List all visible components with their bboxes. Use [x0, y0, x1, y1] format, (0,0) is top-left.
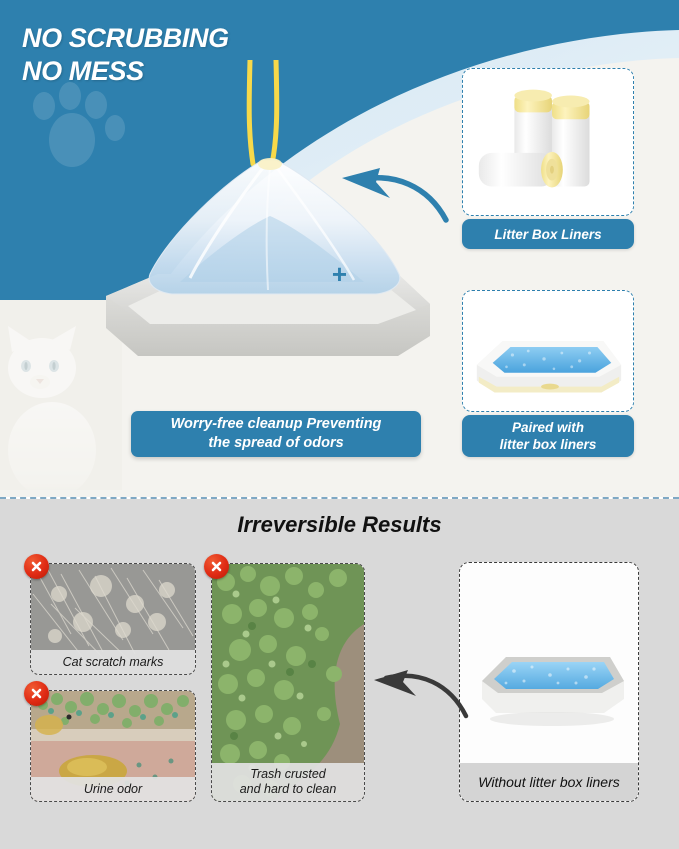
- product-card-liners-frame: [462, 68, 634, 216]
- problem-card-trash[interactable]: Trash crusted and hard to clean: [211, 563, 365, 802]
- problem-card-urine[interactable]: Urine odor: [30, 690, 196, 802]
- section-divider: [0, 497, 679, 499]
- product-card-paired[interactable]: Paired with litter box liners: [462, 290, 634, 457]
- result-card-caption: Without litter box liners: [460, 763, 638, 801]
- liner-rolls-image: [463, 69, 633, 215]
- problem-card-scratch[interactable]: Cat scratch marks: [30, 563, 196, 675]
- blue-litter-tray-image: [463, 291, 633, 411]
- x-badge-icon-trash: [204, 554, 229, 579]
- result-card-without-liners[interactable]: Without litter box liners: [459, 562, 639, 802]
- dark-arrow-icon: [372, 662, 472, 720]
- blue-arrow-icon: [332, 158, 452, 224]
- problem-card-scratch-image: Cat scratch marks: [31, 564, 195, 674]
- problem-card-urine-image: Urine odor: [31, 691, 195, 801]
- infographic-page: NO SCRUBBING NO MESS: [0, 0, 679, 849]
- problem-card-scratch-caption: Cat scratch marks: [31, 650, 195, 674]
- product-card-paired-label-text: Paired with litter box liners: [500, 419, 597, 453]
- x-badge-icon-scratch: [24, 554, 49, 579]
- top-section: NO SCRUBBING NO MESS: [0, 0, 679, 497]
- product-card-liners-label: Litter Box Liners: [462, 219, 634, 249]
- problem-card-trash-caption: Trash crusted and hard to clean: [212, 763, 364, 801]
- caption-banner: Worry-free cleanup Preventing the spread…: [131, 411, 421, 457]
- section-title: Irreversible Results: [0, 512, 679, 538]
- problem-card-urine-caption: Urine odor: [31, 777, 195, 801]
- caption-banner-text: Worry-free cleanup Preventing the spread…: [171, 415, 382, 453]
- product-card-paired-frame: [462, 290, 634, 412]
- product-card-paired-label: Paired with litter box liners: [462, 415, 634, 457]
- problem-card-trash-image: Trash crusted and hard to clean: [212, 564, 364, 801]
- product-card-liners-label-text: Litter Box Liners: [494, 226, 601, 243]
- x-badge-icon-urine: [24, 681, 49, 706]
- plus-icon: +: [0, 261, 679, 287]
- page-title: NO SCRUBBING NO MESS: [22, 22, 229, 88]
- product-card-liners[interactable]: Litter Box Liners: [462, 68, 634, 249]
